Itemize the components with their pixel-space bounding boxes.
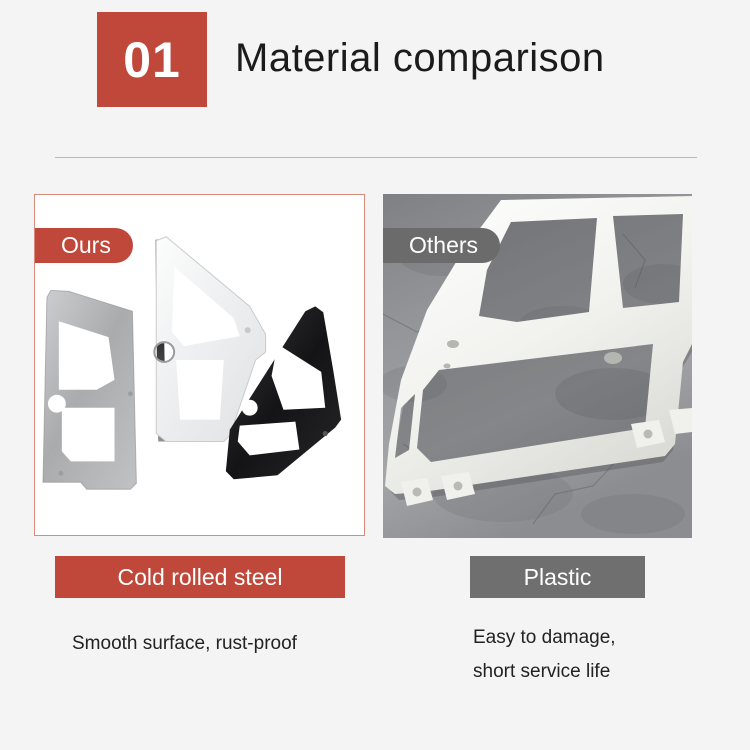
others-description: Easy to damage, short service life xyxy=(473,621,616,689)
mount-hole xyxy=(604,352,622,364)
others-description-line-1: Easy to damage, xyxy=(473,621,616,655)
mount-hole xyxy=(58,471,63,476)
comparison-section: Ours xyxy=(0,194,750,544)
mount-hole xyxy=(444,364,451,369)
mount-hole xyxy=(447,340,459,348)
mount-hole xyxy=(128,391,133,396)
others-label-badge: Others xyxy=(383,228,500,263)
ours-caption-bar: Cold rolled steel xyxy=(55,556,345,598)
ours-photo-panel: Ours xyxy=(34,194,365,536)
others-caption-bar: Plastic xyxy=(470,556,645,598)
others-description-line-2: short service life xyxy=(473,655,616,689)
ours-description: Smooth surface, rust-proof xyxy=(72,627,297,661)
section-number-badge: 01 xyxy=(97,12,207,107)
ours-label-badge: Ours xyxy=(35,228,133,263)
mount-hole xyxy=(323,431,328,436)
header-divider xyxy=(55,157,697,158)
steel-bracket-black xyxy=(219,294,353,493)
mount-hole xyxy=(245,327,251,333)
page-header: 01 Material comparison xyxy=(0,0,750,140)
page-title: Material comparison xyxy=(235,36,605,81)
others-photo-panel: Others xyxy=(383,194,692,538)
